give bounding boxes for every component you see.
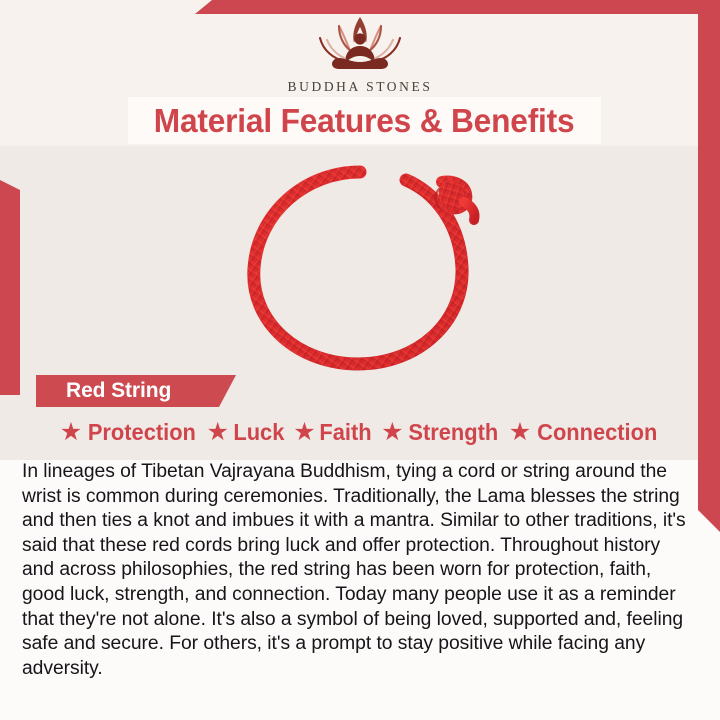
infographic-page: BUDDHA STONES Material Features & Benefi…	[0, 0, 720, 720]
benefit-label: Faith	[320, 419, 372, 446]
brand-logo: BUDDHA STONES	[0, 14, 720, 95]
star-icon: ★	[293, 422, 315, 443]
product-label: Red String	[66, 379, 171, 403]
title-banner: Material Features & Benefits	[128, 97, 601, 144]
benefit-item-protection: ★ Protection	[60, 419, 199, 446]
page-title: Material Features & Benefits	[154, 102, 575, 140]
benefit-item-connection: ★ Connection	[509, 419, 661, 446]
brand-name: BUDDHA STONES	[0, 79, 720, 95]
star-icon: ★	[60, 422, 82, 443]
lotus-meditation-icon	[299, 14, 421, 76]
benefit-item-faith: ★ Faith	[293, 419, 373, 446]
decorative-bar-top	[195, 0, 720, 14]
benefit-item-strength: ★ Strength	[381, 419, 501, 446]
benefit-label: Strength	[409, 419, 499, 446]
star-icon: ★	[207, 422, 229, 443]
benefits-list: ★ Protection ★ Luck ★ Faith ★ Strength ★…	[0, 419, 720, 446]
star-icon: ★	[381, 422, 403, 443]
benefit-label: Luck	[233, 419, 284, 446]
benefit-label: Protection	[88, 419, 196, 446]
product-label-banner: Red String	[36, 375, 236, 407]
decorative-bar-left	[0, 180, 20, 395]
star-icon: ★	[509, 422, 531, 443]
product-image-red-string-bracelet	[228, 150, 496, 382]
benefit-label: Connection	[537, 419, 657, 446]
benefit-item-luck: ★ Luck	[207, 419, 286, 446]
description-paragraph: In lineages of Tibetan Vajrayana Buddhis…	[22, 459, 688, 680]
